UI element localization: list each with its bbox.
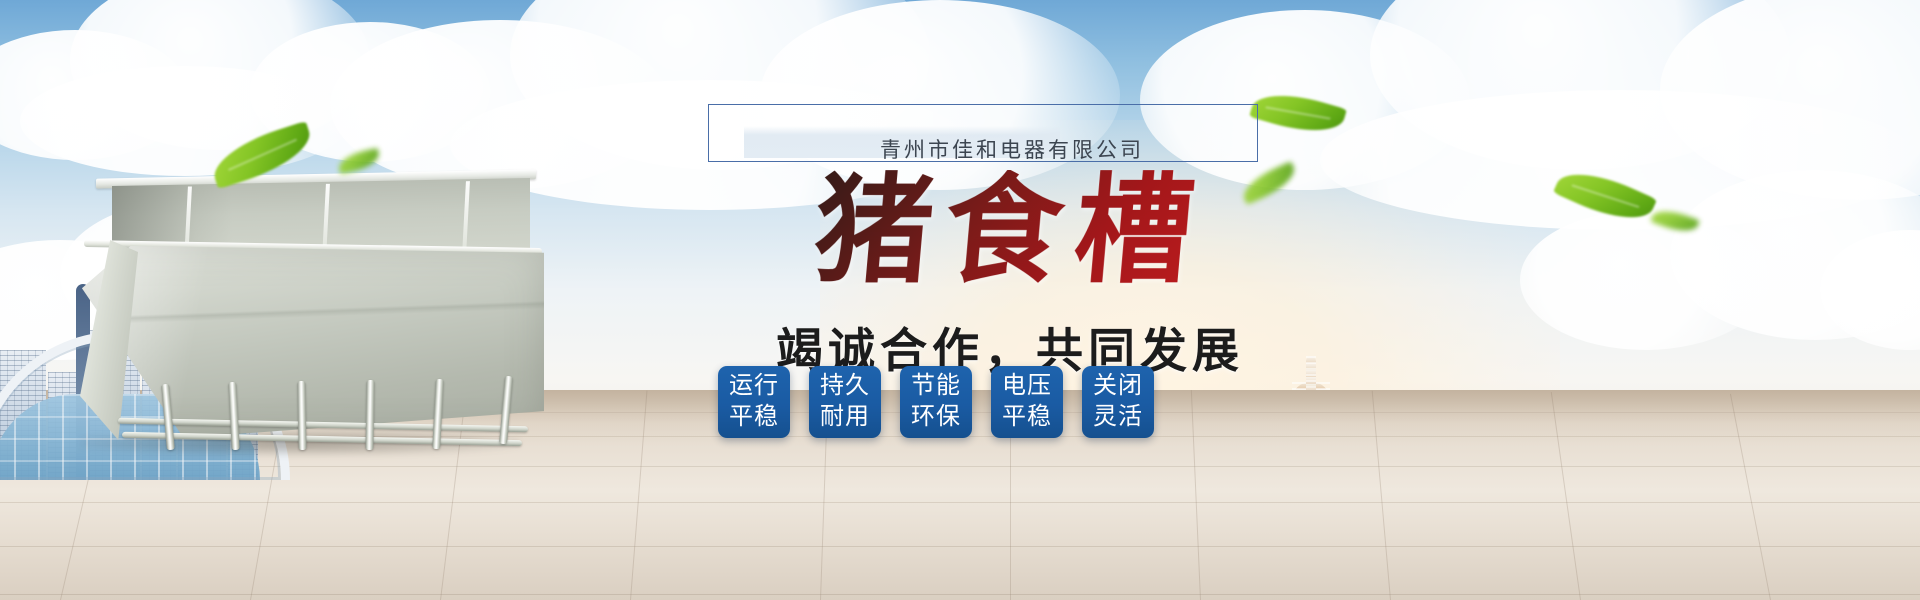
feature-badge[interactable]: 电压 平稳 — [991, 366, 1063, 438]
feature-badge-line2: 环保 — [911, 402, 961, 433]
feature-badge-line2: 平稳 — [1002, 402, 1052, 433]
product-image-pig-feeder-trough — [78, 160, 548, 460]
trough-bottom-rail — [122, 432, 522, 446]
feature-badge[interactable]: 运行 平稳 — [718, 366, 790, 438]
feature-badge[interactable]: 节能 环保 — [900, 366, 972, 438]
trough-divider-bar — [297, 381, 306, 450]
page-title: 猪食槽 — [705, 170, 1316, 290]
leaf-vein — [1265, 107, 1330, 120]
feature-badge-line2: 耐用 — [820, 402, 870, 433]
feature-badge[interactable]: 持久 耐用 — [809, 366, 881, 438]
leaf-vein — [1571, 184, 1639, 207]
plaza-tile-line — [0, 502, 1920, 503]
feature-badge-line1: 运行 — [729, 371, 779, 402]
plaza-tile-line — [0, 546, 1920, 547]
feature-badge-line1: 关闭 — [1093, 371, 1143, 402]
feature-badge-line1: 持久 — [820, 371, 870, 402]
feature-badge-list: 运行 平稳 持久 耐用 节能 环保 电压 平稳 关闭 灵活 — [718, 366, 1154, 438]
trough-divider-bar — [365, 380, 374, 450]
promotional-banner: 青州市佳和电器有限公司 猪食槽 竭诚合作，共同发展 运行 平稳 持久 耐用 节能… — [0, 0, 1920, 600]
plaza-tile-line — [0, 594, 1920, 595]
feature-badge[interactable]: 关闭 灵活 — [1082, 366, 1154, 438]
feature-badge-line2: 平稳 — [729, 402, 779, 433]
feature-badge-line2: 灵活 — [1093, 402, 1143, 433]
feature-badge-line1: 电压 — [1002, 371, 1052, 402]
trough-front-panel — [82, 246, 544, 438]
feature-badge-line1: 节能 — [911, 371, 961, 402]
trough-inner-rib — [462, 181, 470, 255]
trough-surface-highlight — [82, 246, 544, 438]
